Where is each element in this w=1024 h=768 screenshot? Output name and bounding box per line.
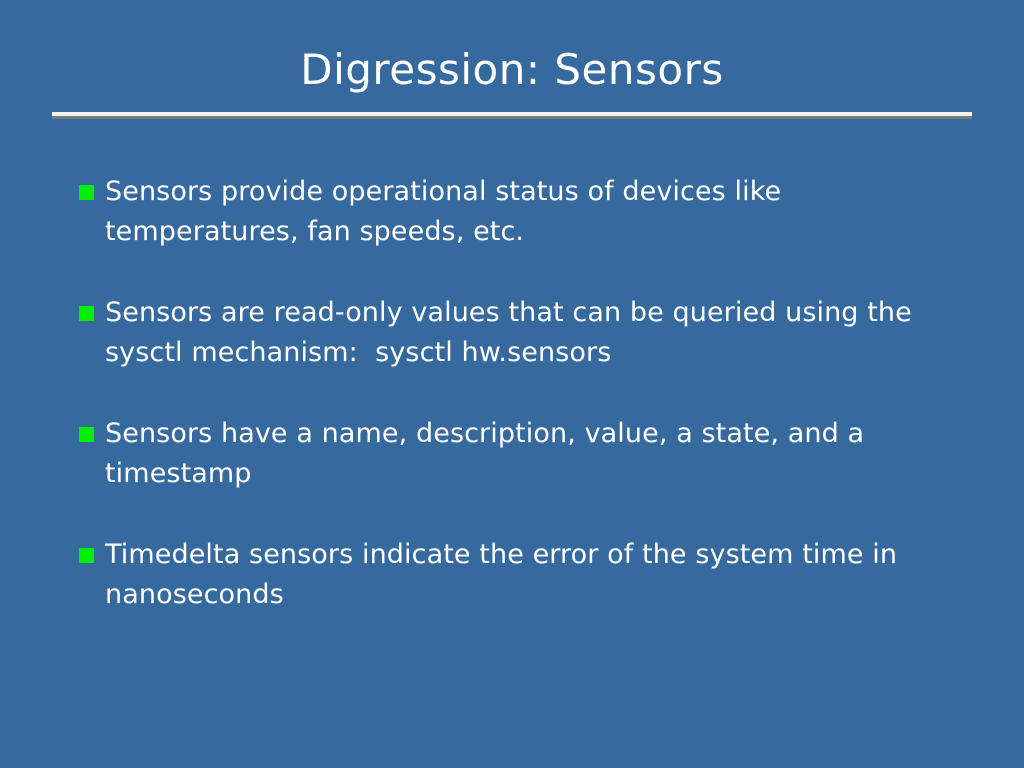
bullet-text: Timedelta sensors indicate the error of …	[105, 535, 959, 615]
green-square-bullet-icon	[79, 306, 94, 321]
bullet-text: Sensors provide operational status of de…	[105, 172, 959, 252]
page-title: Digression: Sensors	[0, 44, 1024, 96]
bullet-text: Sensors are read-only values that can be…	[105, 293, 959, 373]
slide-title-block: Digression: Sensors	[0, 44, 1024, 96]
green-square-bullet-icon	[79, 185, 94, 200]
green-square-bullet-icon	[79, 427, 94, 442]
list-item: Sensors provide operational status of de…	[79, 172, 959, 252]
presentation-slide: Digression: Sensors Sensors provide oper…	[0, 0, 1024, 768]
title-divider	[52, 112, 972, 119]
bullet-text: Sensors have a name, description, value,…	[105, 414, 959, 494]
green-square-bullet-icon	[79, 548, 94, 563]
list-item: Sensors have a name, description, value,…	[79, 414, 959, 494]
divider-shadow-line	[52, 116, 972, 119]
list-item: Timedelta sensors indicate the error of …	[79, 535, 959, 615]
list-item: Sensors are read-only values that can be…	[79, 293, 959, 373]
bullet-list: Sensors provide operational status of de…	[79, 172, 959, 615]
